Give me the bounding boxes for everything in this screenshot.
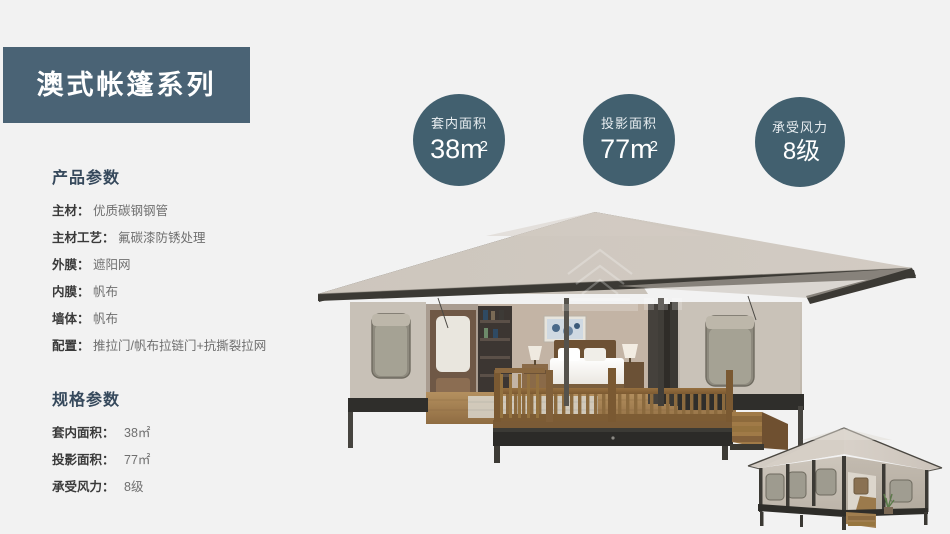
- param-row: 墙体： 帆布: [52, 306, 352, 333]
- param-value: 氟碳漆防锈处理: [118, 231, 206, 245]
- param-row: 外膜： 遮阳网: [52, 252, 352, 279]
- specification-panel: 产品参数 主材： 优质碳钢钢管 主材工艺： 氟碳漆防锈处理 外膜： 遮阳网 内膜…: [52, 164, 352, 501]
- param-key: 配置：: [52, 339, 90, 353]
- param-key: 主材工艺：: [52, 231, 115, 245]
- param-value: 优质碳钢钢管: [93, 204, 168, 218]
- stat-superscript: 2: [650, 138, 658, 155]
- param-key: 墙体：: [52, 312, 90, 326]
- param-key: 投影面积：: [52, 453, 115, 467]
- param-value: 推拉门/帆布拉链门+抗撕裂拉网: [93, 339, 266, 353]
- stat-value: 8级: [783, 140, 817, 164]
- stat-superscript: 2: [480, 138, 488, 155]
- param-value: 帆布: [93, 285, 118, 299]
- product-params-heading: 产品参数: [52, 164, 352, 188]
- param-row: 主材： 优质碳钢钢管: [52, 198, 352, 225]
- stat-label: 套内面积: [431, 117, 487, 130]
- stat-number: 8级: [783, 138, 820, 165]
- spec-params-section: 规格参数 套内面积： 38㎡ 投影面积： 77㎡ 承受风力： 8级: [52, 386, 352, 501]
- param-row: 承受风力： 8级: [52, 474, 352, 501]
- param-row: 配置： 推拉门/帆布拉链门+抗撕裂拉网: [52, 333, 352, 360]
- param-value: 帆布: [93, 312, 118, 326]
- param-row: 主材工艺： 氟碳漆防锈处理: [52, 225, 352, 252]
- param-key: 主材：: [52, 204, 90, 218]
- param-key: 套内面积：: [52, 426, 115, 440]
- slide-canvas: 澳式帐篷系列 产品参数 主材： 优质碳钢钢管 主材工艺： 氟碳漆防锈处理 外膜：…: [0, 0, 950, 534]
- param-key: 内膜：: [52, 285, 90, 299]
- wind-circle-icon: 承受风力 8级: [755, 97, 845, 187]
- title-banner: 澳式帐篷系列: [3, 47, 250, 123]
- stat-number: 77m: [600, 134, 653, 164]
- product-params-section: 产品参数 主材： 优质碳钢钢管 主材工艺： 氟碳漆防锈处理 外膜： 遮阳网 内膜…: [52, 164, 352, 360]
- param-row: 投影面积： 77㎡: [52, 447, 352, 474]
- param-value: 38㎡: [124, 426, 150, 440]
- param-value: 遮阳网: [93, 258, 131, 272]
- param-value: 8级: [124, 480, 143, 494]
- stat-value: 38m2: [430, 136, 488, 163]
- param-value: 77㎡: [124, 453, 150, 467]
- param-row: 内膜： 帆布: [52, 279, 352, 306]
- page-title: 澳式帐篷系列: [37, 72, 217, 99]
- spec-params-heading: 规格参数: [52, 386, 352, 410]
- inset-tent-image: [742, 424, 950, 534]
- projection-circle-icon: 投影面积 77m2: [583, 94, 675, 186]
- stat-number: 38m: [430, 134, 483, 164]
- param-key: 外膜：: [52, 258, 90, 272]
- area-circle-icon: 套内面积 38m2: [413, 94, 505, 186]
- param-row: 套内面积： 38㎡: [52, 420, 352, 447]
- stat-value: 77m2: [600, 136, 658, 163]
- param-key: 承受风力：: [52, 480, 115, 494]
- stat-label: 承受风力: [772, 121, 828, 134]
- stat-label: 投影面积: [601, 117, 657, 130]
